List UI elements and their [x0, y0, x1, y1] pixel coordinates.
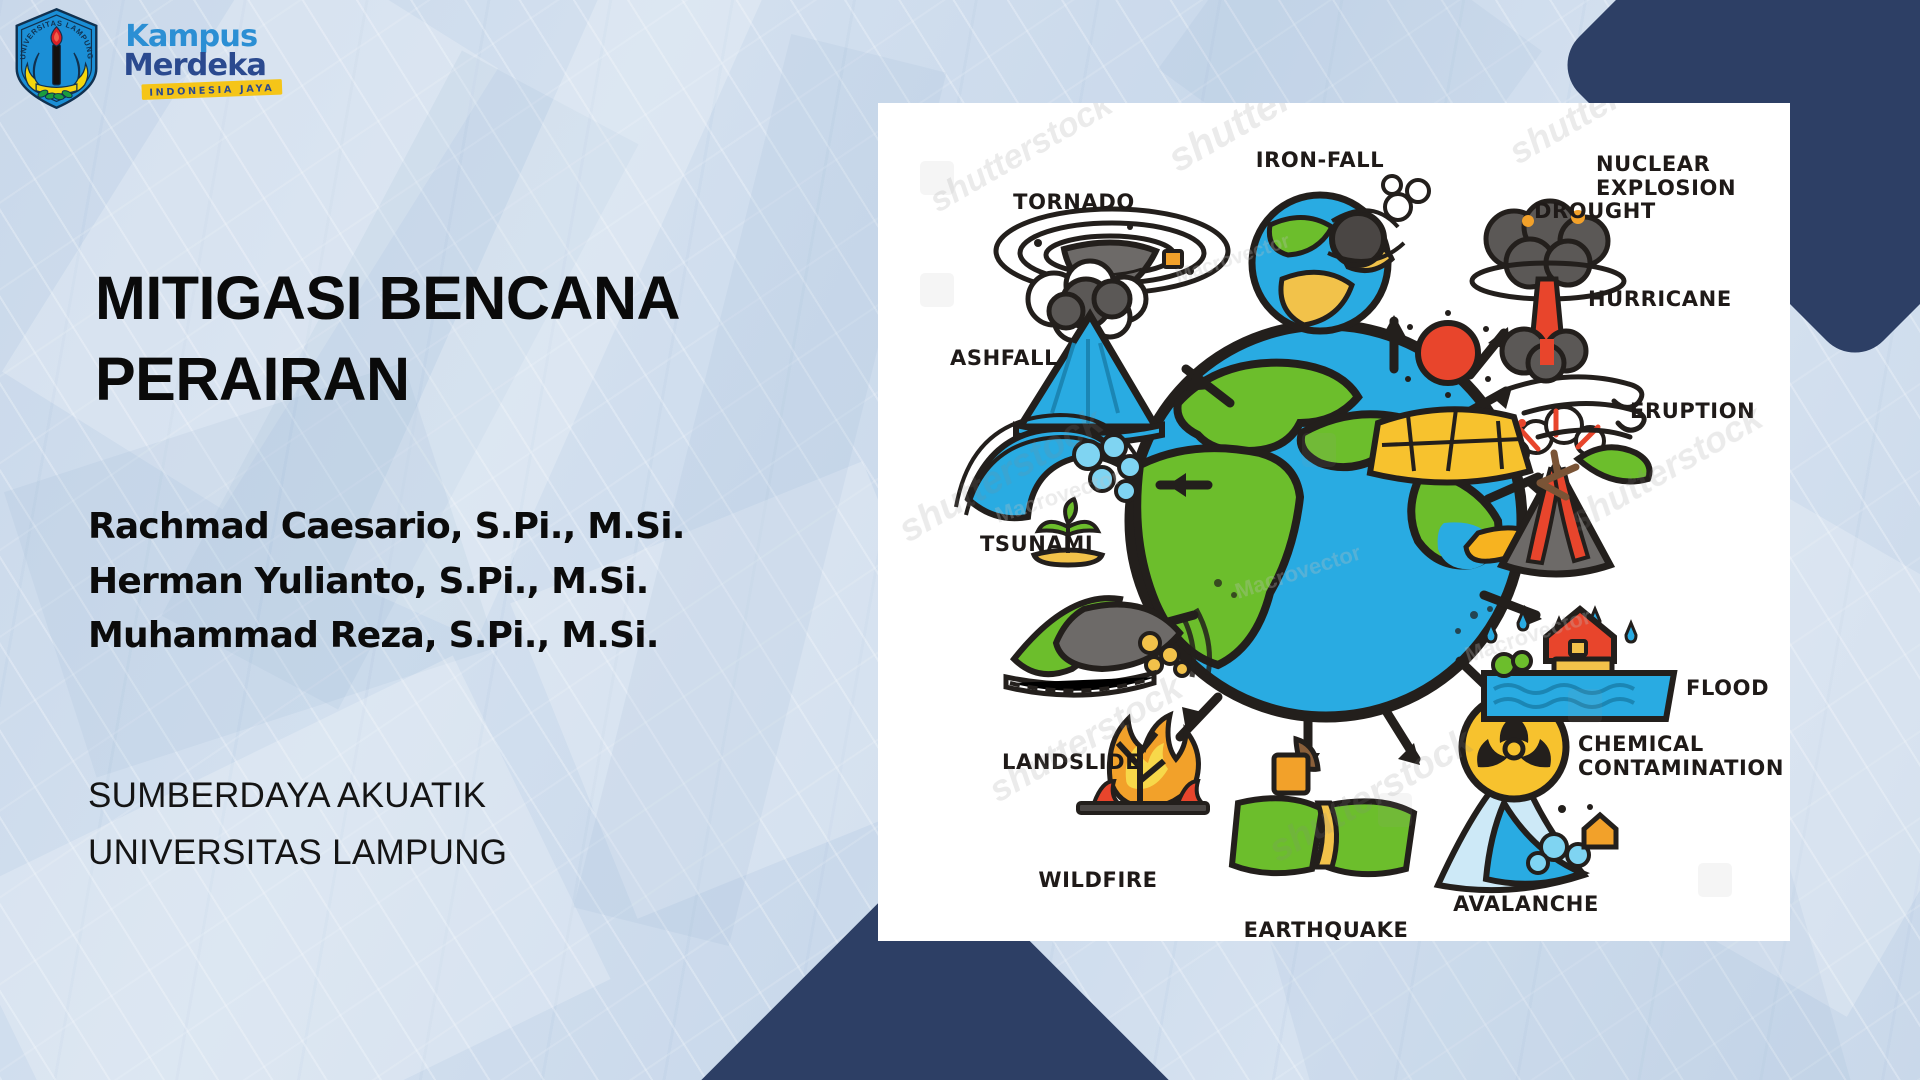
- author-name: Rachmad Caesario, S.Pi., M.Si.: [88, 500, 848, 555]
- disaster-diagram-image: TORNADO IRON-FALL NUCLEAREXPLOSION DROUG…: [878, 103, 1790, 941]
- label-flood: FLOOD: [1686, 676, 1769, 700]
- watermark-badge: [920, 161, 954, 195]
- disaster-diagram-svg: TORNADO IRON-FALL NUCLEAREXPLOSION DROUG…: [878, 103, 1790, 941]
- label-drought: DROUGHT: [1534, 199, 1656, 223]
- affiliation-department: SUMBERDAYA AKUATIK: [88, 768, 848, 825]
- universitas-lampung-logo: UNIVERSITAS LAMPUNG: [8, 6, 105, 111]
- watermark-badge: [1568, 689, 1602, 723]
- watermark-badge: [1302, 433, 1336, 467]
- author-name: Muhammad Reza, S.Pi., M.Si.: [88, 609, 848, 664]
- label-wildfire: WILDFIRE: [1038, 868, 1157, 892]
- author-list: Rachmad Caesario, S.Pi., M.Si. Herman Yu…: [88, 500, 848, 664]
- affiliation-footer: SUMBERDAYA AKUATIK UNIVERSITAS LAMPUNG: [88, 768, 848, 881]
- label-avalanche: AVALANCHE: [1453, 892, 1599, 916]
- logo-group: UNIVERSITAS LAMPUNG Kampus Merdeka INDON…: [8, 6, 298, 111]
- affiliation-university: UNIVERSITAS LAMPUNG: [88, 825, 848, 882]
- kampus-merdeka-logo: Kampus Merdeka INDONESIA JAYA: [123, 14, 298, 106]
- label-tornado: TORNADO: [1013, 190, 1135, 214]
- label-iron-fall: IRON-FALL: [1256, 148, 1384, 172]
- label-earthquake: EARTHQUAKE: [1244, 918, 1409, 941]
- watermark-badge: [1378, 793, 1412, 827]
- label-tsunami: TSUNAMI: [980, 532, 1093, 556]
- watermark-badge: [1698, 863, 1732, 897]
- kampus-merdeka-line2: Merdeka: [123, 48, 266, 83]
- watermark-badge: [920, 273, 954, 307]
- author-name: Herman Yulianto, S.Pi., M.Si.: [88, 555, 848, 610]
- label-ashfall: ASHFALL: [950, 346, 1058, 370]
- label-hurricane: HURRICANE: [1588, 287, 1732, 311]
- page-title: MITIGASI BENCANA PERAIRAN: [95, 258, 795, 419]
